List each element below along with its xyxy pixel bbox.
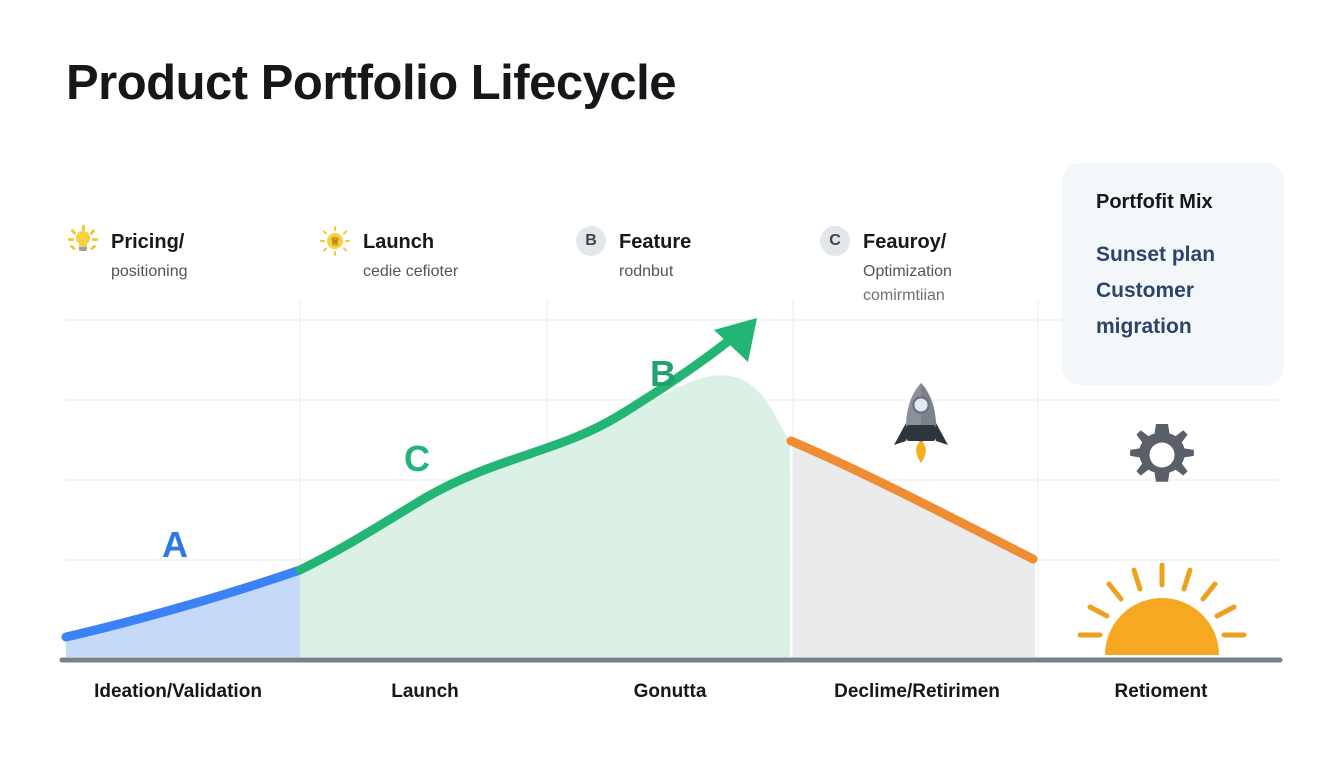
card-body: Sunset plan Customer migration: [1096, 237, 1262, 345]
axis-label-launch: Launch: [391, 681, 459, 703]
card-line-3: migration: [1096, 309, 1262, 345]
annotation-title: Pricing/: [111, 228, 184, 254]
annotation-subtitle: positioning: [111, 260, 296, 284]
setting-sun-icon: [1072, 563, 1252, 661]
x-axis-labels: Ideation/Validation Launch Gonutta Decli…: [0, 681, 1344, 713]
letter-badge-c: C: [820, 226, 850, 256]
annotation-title: Feature: [619, 228, 691, 254]
annotation-subtitle: rodnbut: [619, 260, 804, 284]
card-title: Portfofit Mix: [1096, 189, 1262, 215]
annotation-title: Feauroy/: [863, 228, 946, 254]
growth-arrowhead: [714, 318, 757, 362]
gear-icon: [1127, 420, 1197, 490]
card-line-2: Customer: [1096, 273, 1262, 309]
annotation-subtitle: cedie cefioter: [363, 260, 548, 284]
line-ideation: [66, 570, 300, 637]
axis-label-growth: Gonutta: [634, 681, 707, 703]
letter-badge-b-wrap: B: [574, 224, 608, 258]
portfolio-mix-card[interactable]: Portfofit Mix Sunset plan Customer migra…: [1062, 163, 1284, 385]
curve-marker-b: B: [650, 356, 676, 392]
axis-label-decline: Declime/Retirimen: [834, 681, 1000, 703]
area-growth: [300, 375, 790, 657]
annotation-subtitle: Optimization: [863, 260, 1048, 284]
annotation-pricing[interactable]: Pricing/ positioning: [66, 228, 296, 284]
sun-face-icon: ♕: [320, 226, 350, 256]
annotation-optimization[interactable]: C Feauroy/ Optimization comirmtiian: [818, 228, 1048, 308]
lightbulb-icon-wrap: [66, 224, 100, 258]
card-line-1: Sunset plan: [1096, 237, 1262, 273]
page-title: Product Portfolio Lifecycle: [66, 55, 676, 111]
letter-badge-c-wrap: C: [818, 224, 852, 258]
annotation-subtitle-2: comirmtiian: [863, 284, 1048, 308]
axis-label-ideation: Ideation/Validation: [94, 681, 262, 703]
annotation-launch[interactable]: ♕ Launch cedie cefioter: [318, 228, 548, 284]
sun-face-icon-wrap: ♕: [318, 224, 352, 258]
letter-badge-b: B: [576, 226, 606, 256]
annotation-feature[interactable]: B Feature rodnbut: [574, 228, 804, 284]
rocket-icon: [890, 381, 952, 465]
area-decline: [793, 442, 1035, 657]
app-root: Product Portfolio Lifecycle A C: [0, 0, 1344, 768]
axis-label-retirement: Retioment: [1115, 681, 1208, 703]
annotation-row: Pricing/ positioning: [66, 228, 1066, 323]
curve-marker-c: C: [404, 441, 430, 477]
annotation-title: Launch: [363, 228, 434, 254]
curve-marker-a: A: [162, 527, 188, 563]
lightbulb-icon: [68, 226, 98, 256]
area-ideation: [66, 570, 300, 657]
